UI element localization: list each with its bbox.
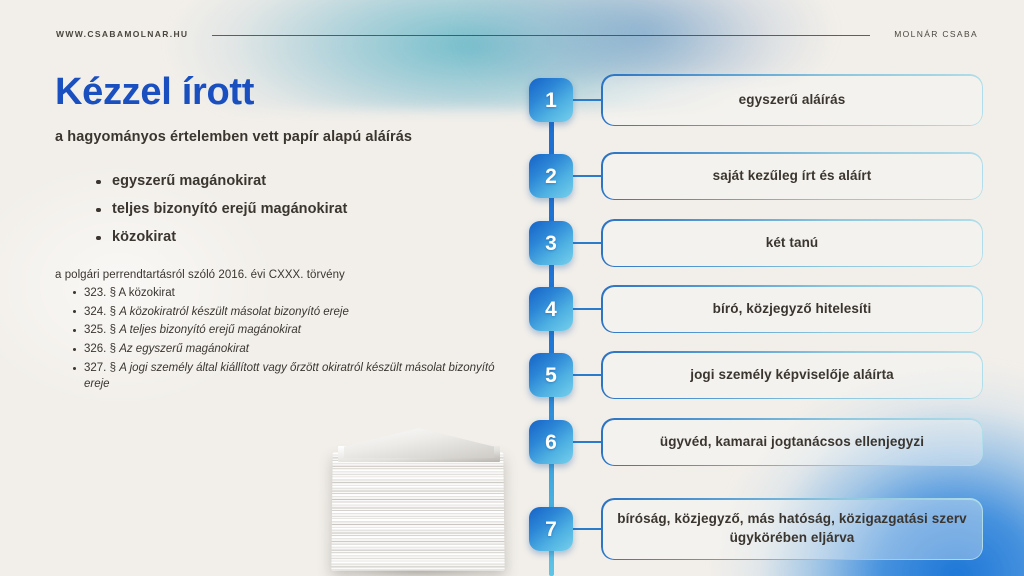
timeline-label-text: bíró, közjegyző hitelesíti <box>713 300 872 319</box>
timeline-step-badge: 7 <box>529 507 573 551</box>
page-title: Kézzel írott <box>55 72 505 114</box>
timeline-item-5[interactable]: 5jogi személy képviselője aláírta <box>522 351 983 399</box>
timeline-item-1[interactable]: 1egyszerű aláírás <box>522 74 983 126</box>
paper-stack-sheets <box>331 452 504 570</box>
timeline-connector <box>573 441 601 443</box>
timeline-label-box[interactable]: saját kezűleg írt és aláírt <box>601 152 983 200</box>
timeline-item-6[interactable]: 6ügyvéd, kamarai jogtanácsos ellenjegyzi <box>522 418 983 466</box>
timeline-step-badge: 2 <box>529 154 573 198</box>
law-section-item: 324. § A közokiratról készült másolat bi… <box>71 304 505 320</box>
timeline-label-text: bíróság, közjegyző, más hatóság, közigaz… <box>617 510 967 547</box>
law-section-item: 327. § A jogi személy által kiállított v… <box>71 360 505 393</box>
timeline-step-badge: 5 <box>529 353 573 397</box>
law-section-item: 325. § A teljes bizonyító erejű magánoki… <box>71 322 505 338</box>
law-title: a polgári perrendtartásról szóló 2016. é… <box>55 269 505 281</box>
timeline-label-box[interactable]: jogi személy képviselője aláírta <box>601 351 983 399</box>
timeline-step-number: 7 <box>545 519 557 540</box>
law-section-text: Az egyszerű magánokirat <box>119 343 249 355</box>
timeline-item-3[interactable]: 3két tanú <box>522 219 983 267</box>
timeline-step-number: 2 <box>545 166 557 187</box>
paper-stack-top-sheet <box>344 428 494 458</box>
law-section-number: 325. § <box>84 324 116 336</box>
law-section-text: A jogi személy által kiállított vagy őrz… <box>84 362 495 390</box>
timeline-step-number: 5 <box>545 365 557 386</box>
law-section-number: 323. § <box>84 287 116 299</box>
document-type-item: teljes bizonyító erejű magánokirat <box>94 201 505 217</box>
timeline-connector <box>573 374 601 376</box>
timeline-step-badge: 3 <box>529 221 573 265</box>
timeline-item-7[interactable]: 7bíróság, közjegyző, más hatóság, köziga… <box>522 498 983 560</box>
timeline-label-box[interactable]: bíróság, közjegyző, más hatóság, közigaz… <box>601 498 983 560</box>
left-content-column: Kézzel írott a hagyományos értelemben ve… <box>55 72 505 395</box>
law-section-text: A közokirat <box>119 287 175 299</box>
law-section-number: 324. § <box>84 306 116 318</box>
document-type-item: közokirat <box>94 229 505 245</box>
timeline-label-text: ügyvéd, kamarai jogtanácsos ellenjegyzi <box>660 433 924 452</box>
paper-stack-upper-sheet <box>338 446 500 462</box>
slide-root: WWW.CSABAMOLNAR.HU MOLNÁR CSABA Kézzel í… <box>0 0 1024 576</box>
document-types-list: egyszerű magánokiratteljes bizonyító ere… <box>94 173 505 245</box>
timeline: 1egyszerű aláírás2saját kezűleg írt és a… <box>522 0 1024 576</box>
timeline-label-text: jogi személy képviselője aláírta <box>690 366 894 385</box>
timeline-step-number: 3 <box>545 233 557 254</box>
law-section-item: 323. § A közokirat <box>71 285 505 301</box>
site-url: WWW.CSABAMOLNAR.HU <box>56 29 188 39</box>
timeline-connector <box>573 528 601 530</box>
page-subtitle: a hagyományos értelemben vett papír alap… <box>55 129 505 145</box>
paper-stack-shadow <box>324 564 512 576</box>
law-section-text: A teljes bizonyító erejű magánokirat <box>119 324 301 336</box>
timeline-connector <box>573 308 601 310</box>
timeline-step-badge: 1 <box>529 78 573 122</box>
timeline-label-box[interactable]: bíró, közjegyző hitelesíti <box>601 285 983 333</box>
timeline-connector <box>573 242 601 244</box>
law-sections-list: 323. § A közokirat324. § A közokiratról … <box>71 285 505 393</box>
timeline-label-box[interactable]: két tanú <box>601 219 983 267</box>
timeline-label-text: két tanú <box>766 234 819 253</box>
timeline-label-text: saját kezűleg írt és aláírt <box>713 167 872 186</box>
timeline-label-box[interactable]: ügyvéd, kamarai jogtanácsos ellenjegyzi <box>601 418 983 466</box>
law-section-text: A közokiratról készült másolat bizonyító… <box>119 306 349 318</box>
timeline-step-badge: 4 <box>529 287 573 331</box>
timeline-label-text: egyszerű aláírás <box>739 91 846 110</box>
law-section-number: 327. § <box>84 362 116 374</box>
law-section-number: 326. § <box>84 343 116 355</box>
paper-stack-illustration <box>318 418 518 576</box>
law-reference-block: a polgári perrendtartásról szóló 2016. é… <box>55 269 505 393</box>
law-section-item: 326. § Az egyszerű magánokirat <box>71 341 505 357</box>
timeline-item-2[interactable]: 2saját kezűleg írt és aláírt <box>522 152 983 200</box>
timeline-item-4[interactable]: 4bíró, közjegyző hitelesíti <box>522 285 983 333</box>
document-type-item: egyszerű magánokirat <box>94 173 505 189</box>
timeline-connector <box>573 99 601 101</box>
timeline-step-number: 1 <box>545 90 557 111</box>
timeline-label-box[interactable]: egyszerű aláírás <box>601 74 983 126</box>
timeline-step-badge: 6 <box>529 420 573 464</box>
timeline-step-number: 6 <box>545 432 557 453</box>
timeline-step-number: 4 <box>545 299 557 320</box>
timeline-connector <box>573 175 601 177</box>
